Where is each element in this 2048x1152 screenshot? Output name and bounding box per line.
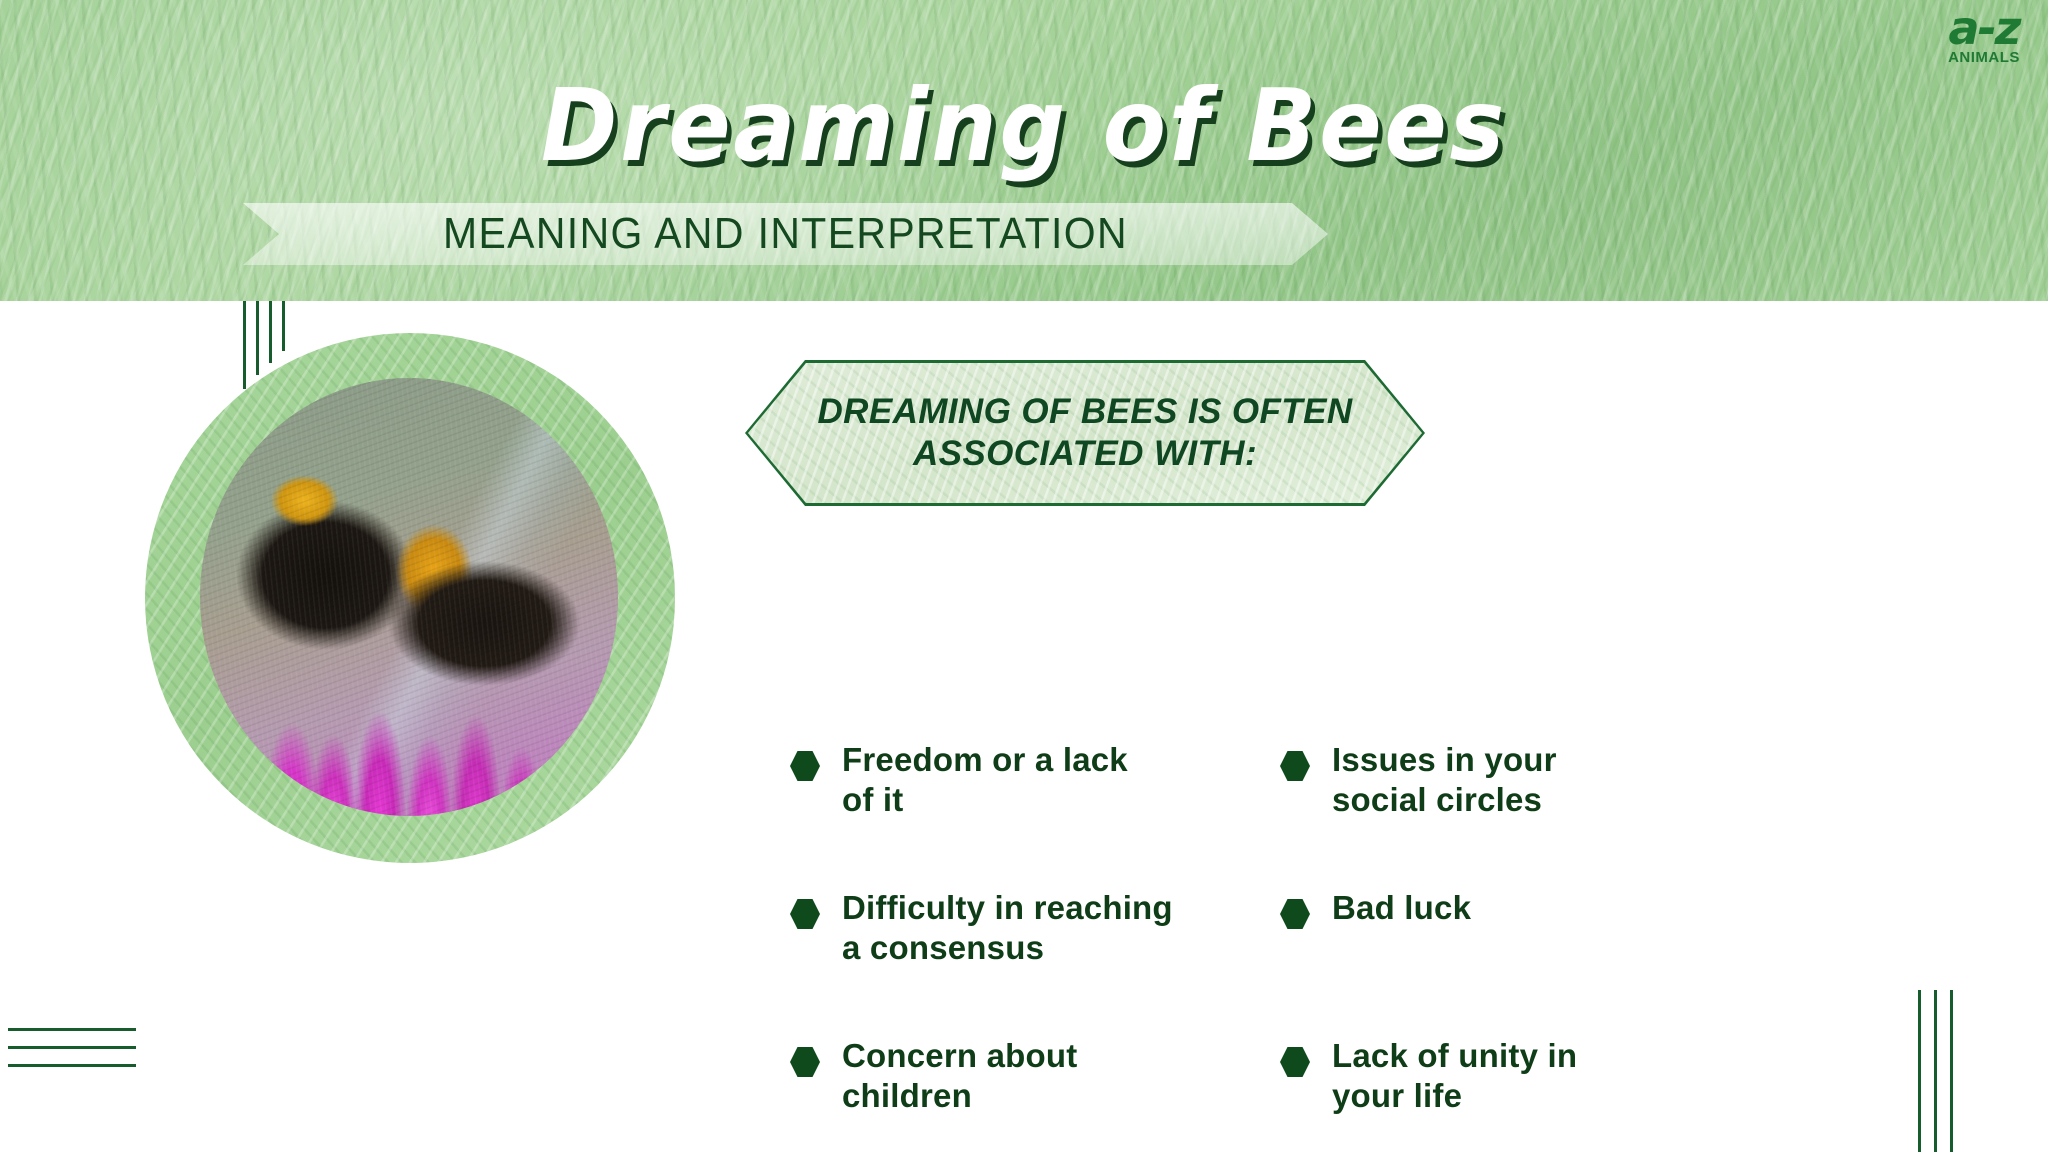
list-item-label: Bad luck — [1332, 888, 1471, 928]
list-item-label: Concern about children — [842, 1036, 1077, 1116]
list-item-line1: Lack of unity in — [1332, 1037, 1577, 1074]
decor-line-top-left-3 — [269, 301, 272, 363]
infographic-page: a-z ANIMALS Dreaming of Bees MEANING AND… — [0, 0, 2048, 1152]
bee-photo — [200, 378, 618, 816]
callout-box: DREAMING OF BEES IS OFTEN ASSOCIATED WIT… — [745, 360, 1425, 506]
list-item-line2: social circles — [1332, 781, 1542, 818]
list-item-line1: Issues in your — [1332, 741, 1557, 778]
list-item: Issues in your social circles — [1280, 740, 1680, 820]
hexagon-bullet-icon — [790, 1047, 820, 1077]
list-item-line2: your life — [1332, 1077, 1462, 1114]
decor-line-bottom-right-2 — [1934, 990, 1937, 1152]
decor-line-bottom-left-2 — [8, 1046, 136, 1049]
hexagon-bullet-icon — [790, 899, 820, 929]
list-item-line1: Freedom or a lack — [842, 741, 1128, 778]
list-item-label: Issues in your social circles — [1332, 740, 1557, 820]
decor-line-bottom-left-1 — [8, 1028, 136, 1031]
logo-wordmark-animals: ANIMALS — [1938, 50, 2030, 66]
decor-line-top-left-2 — [256, 301, 259, 375]
decor-line-bottom-right-1 — [1918, 990, 1921, 1152]
list-item: Difficulty in reaching a consensus — [790, 888, 1190, 968]
decor-line-bottom-left-3 — [8, 1064, 136, 1067]
hexagon-bullet-icon — [1280, 751, 1310, 781]
hexagon-bullet-icon — [1280, 899, 1310, 929]
list-item: Concern about children — [790, 1036, 1190, 1116]
page-subtitle: MEANING AND INTERPRETATION — [281, 203, 1290, 265]
logo-mark-az: a-z — [1938, 6, 2030, 50]
callout-heading-line2: ASSOCIATED WITH: — [913, 433, 1257, 475]
bullet-list: Freedom or a lack of it Issues in your s… — [790, 740, 1910, 1116]
callout-heading: DREAMING OF BEES IS OFTEN ASSOCIATED WIT… — [745, 360, 1425, 506]
bee-photo-ring — [145, 333, 675, 863]
hexagon-bullet-icon — [1280, 1047, 1310, 1077]
page-title: Dreaming of Bees — [82, 74, 1966, 178]
list-item-line2: a consensus — [842, 929, 1044, 966]
hexagon-bullet-icon — [790, 751, 820, 781]
list-item: Freedom or a lack of it — [790, 740, 1190, 820]
list-item-line2: of it — [842, 781, 903, 818]
list-item-line1: Difficulty in reaching — [842, 889, 1173, 926]
list-item: Bad luck — [1280, 888, 1680, 968]
list-item: Lack of unity in your life — [1280, 1036, 1680, 1116]
list-item-line1: Bad luck — [1332, 889, 1471, 926]
list-item-label: Freedom or a lack of it — [842, 740, 1128, 820]
list-item-label: Difficulty in reaching a consensus — [842, 888, 1173, 968]
list-item-label: Lack of unity in your life — [1332, 1036, 1577, 1116]
decor-line-top-left-4 — [282, 301, 285, 351]
callout-heading-line1: DREAMING OF BEES IS OFTEN — [817, 391, 1352, 433]
decor-line-top-left-1 — [243, 301, 246, 389]
header-banner: a-z ANIMALS Dreaming of Bees MEANING AND… — [0, 0, 2048, 301]
az-animals-logo[interactable]: a-z ANIMALS — [1938, 6, 2030, 72]
list-item-line1: Concern about — [842, 1037, 1077, 1074]
decor-line-bottom-right-3 — [1950, 990, 1953, 1152]
list-item-line2: children — [842, 1077, 972, 1114]
